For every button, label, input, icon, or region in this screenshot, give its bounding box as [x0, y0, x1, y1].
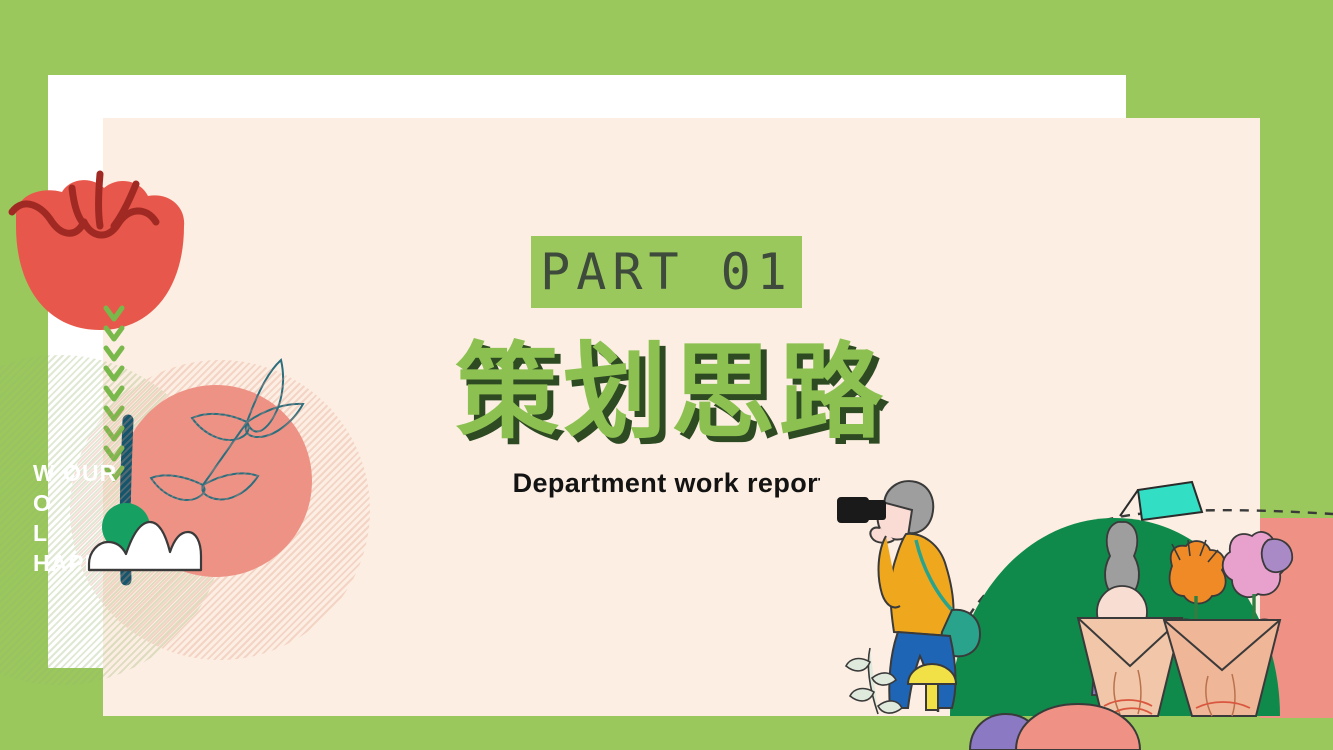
watermark-line-1: W OUR	[33, 458, 178, 488]
mountain-logo-svg	[86, 496, 204, 580]
chevron-column	[106, 308, 122, 479]
part-badge[interactable]: PART 01	[531, 236, 802, 308]
part-label: PART 01	[540, 243, 793, 301]
scenery-illustration	[820, 470, 1333, 750]
scenery-illustration-svg	[820, 470, 1333, 750]
mountain-logo	[86, 496, 204, 580]
camera-lens	[864, 500, 886, 520]
page-title-chinese: 策划思路	[455, 340, 885, 444]
slide-canvas: W OUR O L HAPPY LIFE PART 01 策划思路 Depart…	[0, 0, 1333, 750]
camera-body	[838, 498, 868, 522]
